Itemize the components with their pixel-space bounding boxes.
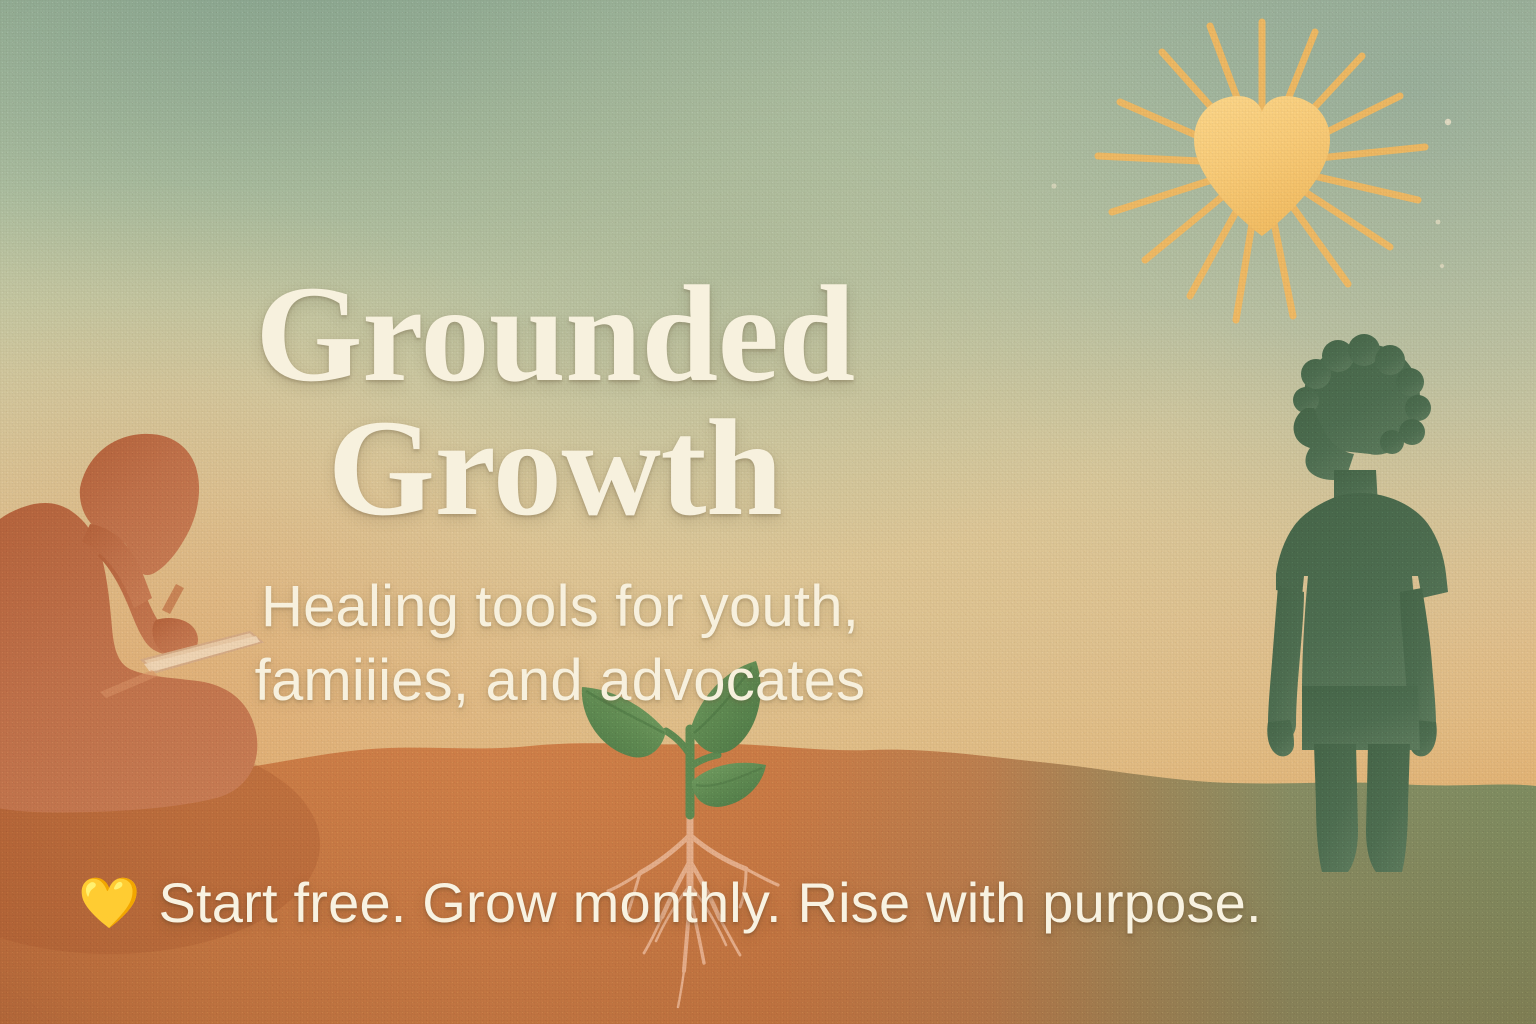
- poster-canvas: Grounded Growth Healing tools for youth,…: [0, 0, 1536, 1024]
- title-line-1: Grounded: [0, 267, 1110, 401]
- tagline-text: Start free. Grow monthly. Rise with purp…: [158, 872, 1261, 934]
- poster-tagline: 💛 Start free. Grow monthly. Rise with pu…: [78, 872, 1262, 934]
- title-line-2: Growth: [0, 401, 1110, 535]
- poster-title: Grounded Growth: [0, 267, 1110, 535]
- text-layer: Grounded Growth Healing tools for youth,…: [0, 0, 1536, 1024]
- subtitle-line-2: famiiies, and advocates: [0, 644, 1120, 718]
- yellow-heart-emoji: 💛: [78, 878, 140, 928]
- subtitle-line-1: Healing tools for youth,: [0, 570, 1120, 644]
- poster-subtitle: Healing tools for youth, famiiies, and a…: [0, 570, 1120, 718]
